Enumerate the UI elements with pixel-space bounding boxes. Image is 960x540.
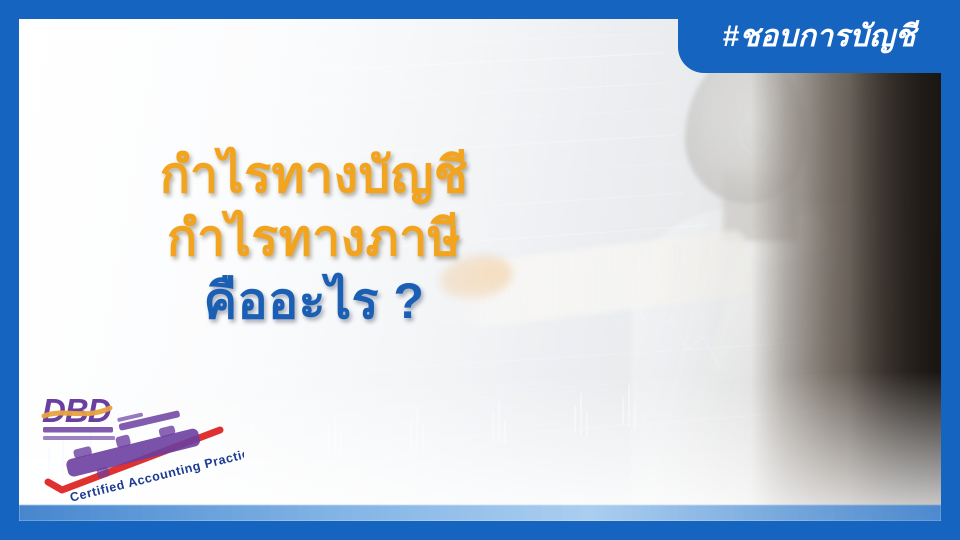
headline-line-3: คืออะไร ? — [24, 276, 604, 327]
frame-top-bar — [0, 0, 960, 19]
dbd-dept-thai — [43, 427, 113, 433]
photo-blue-strip — [19, 505, 941, 521]
hashtag-label: #ชอบการบัญชี — [722, 22, 915, 52]
headline-line-1: กำไรทางบัญชี — [24, 150, 604, 201]
frame-bottom-bar — [0, 521, 960, 540]
frame-left-bar — [0, 0, 19, 540]
headline-block: กำไรทางบัญชี กำไรทางภาษี คืออะไร ? — [24, 150, 604, 339]
frame-right-bar — [941, 0, 960, 540]
headline-line-2: กำไรทางภาษี — [24, 213, 604, 264]
promo-card: #ชอบการบัญชี กำไรทางบัญชี กำไรทางภาษี คื… — [0, 0, 960, 540]
photo-right-shadow-core — [849, 19, 941, 521]
dbd-dept-english — [43, 436, 115, 440]
dbd-certified-logo: DBD — [24, 386, 244, 502]
dbd-acronym-group: DBD — [42, 392, 111, 429]
